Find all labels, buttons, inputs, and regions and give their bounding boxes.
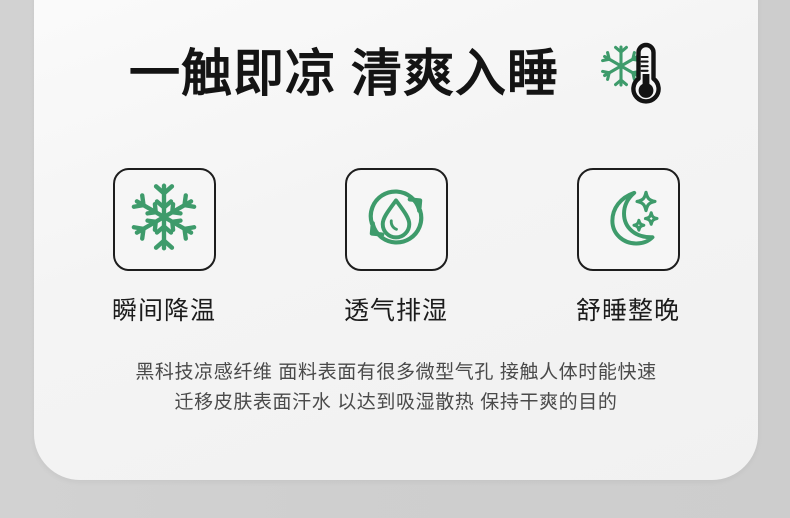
headline-row: 一触即凉清爽入睡 [34,38,758,108]
page-title: 一触即凉清爽入睡 [129,48,559,99]
page-title-part-2: 清爽入睡 [351,45,559,102]
description-line-1: 黑科技凉感纤维 面料表面有很多微型气孔 接触人体时能快速 [34,358,758,388]
page-background: 一触即凉清爽入睡 [0,0,790,518]
crescent-moon-stars-icon [592,181,664,258]
moisture-cycle-icon [360,181,432,258]
feature-item-cooling[interactable]: 瞬间降温 [105,168,223,327]
feature-label: 瞬间降温 [112,291,216,327]
description-paragraph: 黑科技凉感纤维 面料表面有很多微型气孔 接触人体时能快速 迁移皮肤表面汗水 以达… [34,358,758,418]
feature-icon-box [577,168,680,271]
thermometer-snowflake-icon [601,41,663,107]
feature-icon-box [113,168,216,271]
snowflake-icon [128,181,200,258]
feature-label: 透气排湿 [344,291,448,327]
feature-label: 舒睡整晚 [576,291,680,327]
description-line-2: 迁移皮肤表面汗水 以达到吸湿散热 保持干爽的目的 [34,388,758,418]
feature-item-breathable[interactable]: 透气排湿 [337,168,455,327]
feature-list: 瞬间降温 [34,168,758,327]
product-feature-card: 一触即凉清爽入睡 [34,0,758,480]
feature-icon-box [345,168,448,271]
feature-item-sleep[interactable]: 舒睡整晚 [569,168,687,327]
page-title-part-1: 一触即凉 [129,45,337,102]
